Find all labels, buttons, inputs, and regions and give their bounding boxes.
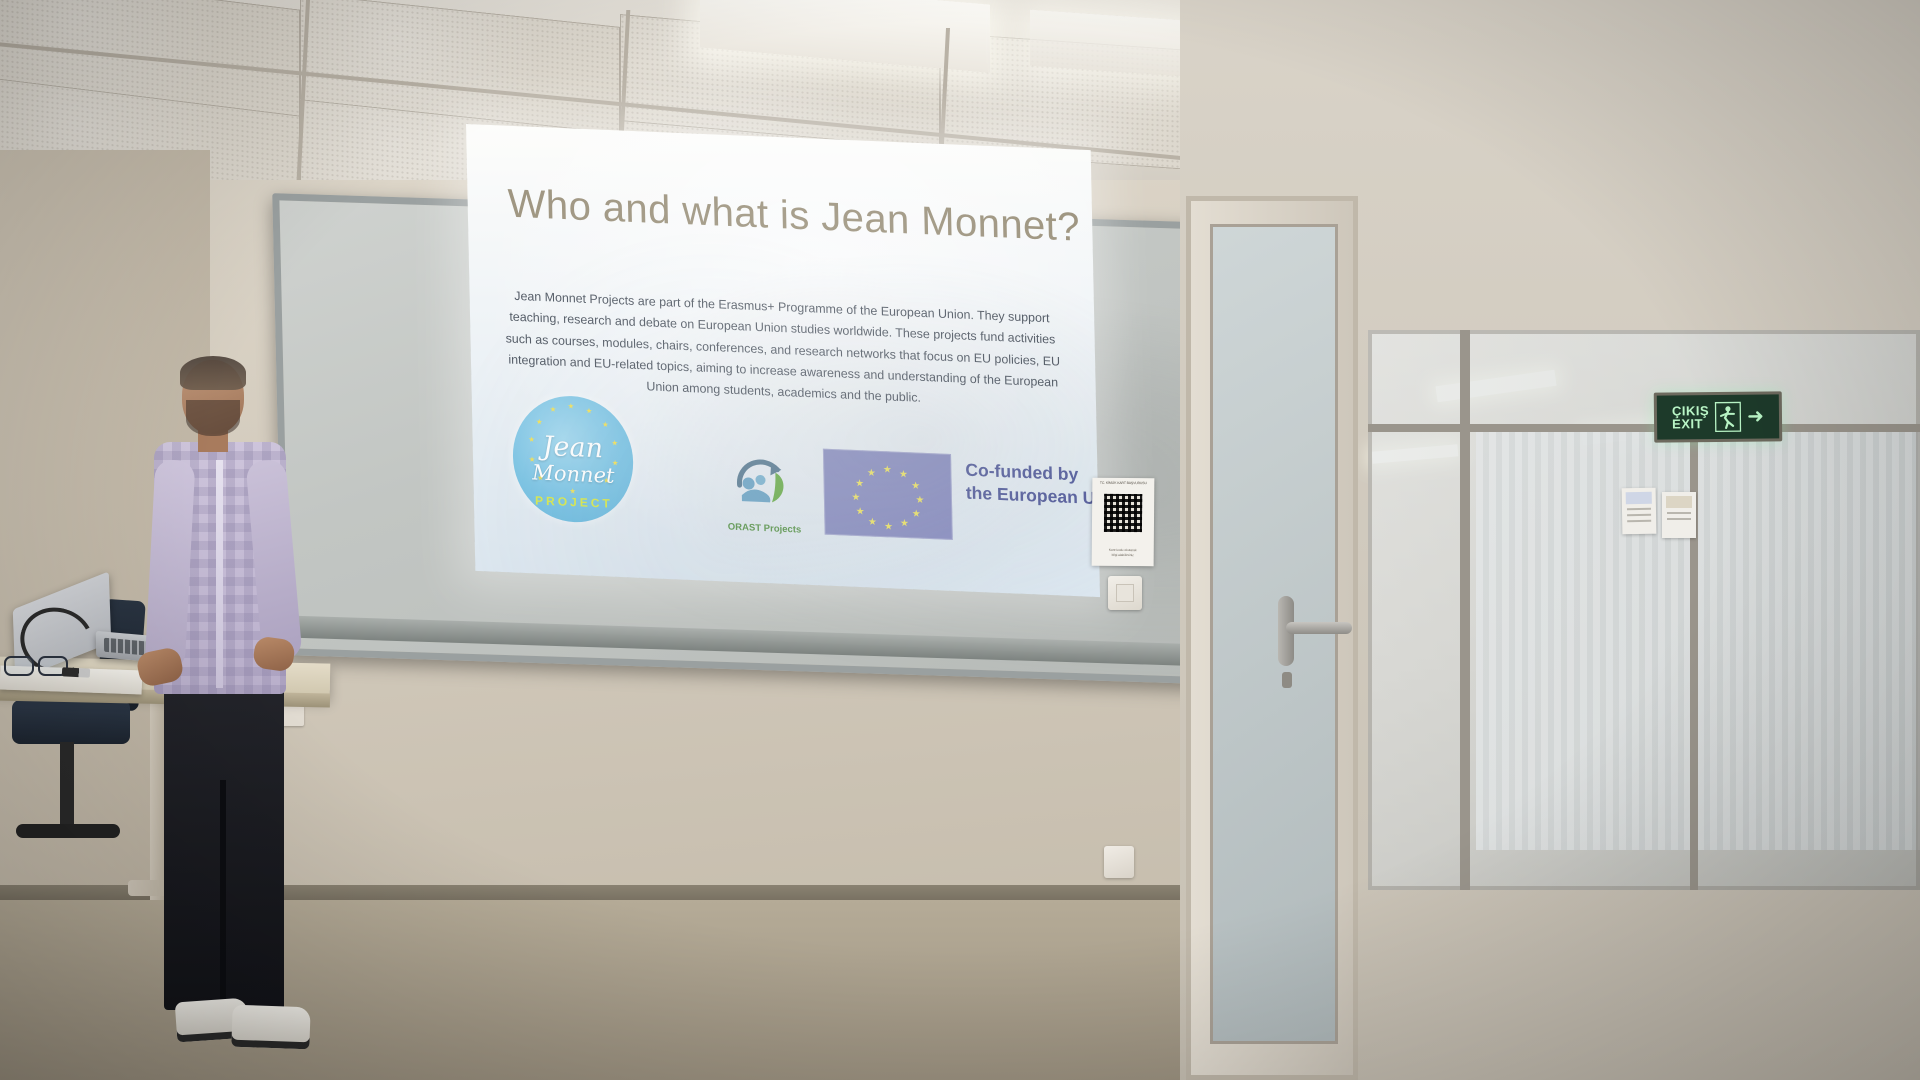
- door-glass-panel: [1210, 224, 1338, 1044]
- chair-seat: [12, 700, 130, 744]
- window-mullion: [1368, 424, 1920, 432]
- exit-sign: ÇIKIŞ EXIT ➜: [1654, 391, 1783, 442]
- jean-monnet-logo: Jean Monnet PROJECT: [512, 394, 635, 525]
- orast-label: ORAST Projects: [718, 521, 810, 536]
- marker-pen: [62, 667, 90, 677]
- jean-monnet-line2: Monnet: [513, 459, 634, 490]
- projected-slide: Who and what is Jean Monnet? Jean Monnet…: [466, 124, 1100, 597]
- eu-flag-stars: [823, 449, 953, 540]
- exit-sign-text: ÇIKIŞ EXIT: [1672, 404, 1709, 431]
- eyeglasses: [4, 656, 66, 674]
- slide-title: Who and what is Jean Monnet?: [507, 182, 1069, 250]
- exit-arrow-icon: ➜: [1747, 407, 1764, 427]
- eu-flag: [823, 449, 953, 540]
- eu-funding-line2: the European Union: [966, 481, 1100, 511]
- qr-poster: TC. KİMLİK KART BAŞVURUSU Kare kodu okut…: [1092, 478, 1155, 567]
- orast-logo: ORAST Projects: [717, 452, 811, 534]
- chair-base: [16, 824, 120, 838]
- window-mullion: [1690, 420, 1698, 890]
- classroom-photo-scene: Who and what is Jean Monnet? Jean Monnet…: [0, 0, 1920, 1080]
- wall-notice: [1622, 488, 1657, 535]
- exit-sign-line2: EXIT: [1672, 417, 1709, 431]
- presenter-beard: [186, 400, 240, 436]
- qr-poster-sub-line2: bilgi alabilirsiniz: [1092, 553, 1154, 558]
- eu-funding-text: Co-funded by the European Union: [965, 459, 1100, 512]
- chair-stem: [60, 742, 74, 828]
- slide-logo-row: Jean Monnet PROJECT ORAST Projects: [471, 382, 1099, 578]
- qr-poster-sub: Kare kodu okutarak bilgi alabilirsiniz: [1092, 548, 1154, 558]
- presenter-shirt-placket: [216, 460, 223, 688]
- running-person-icon: [1715, 402, 1741, 432]
- light-switch[interactable]: [1108, 576, 1142, 610]
- orast-mark-icon: [731, 455, 794, 512]
- qr-code: [1104, 494, 1142, 532]
- window-mullion: [1460, 330, 1470, 890]
- presenter-leg-split: [220, 780, 226, 1010]
- wall-socket: [1104, 846, 1134, 878]
- qr-poster-heading: TC. KİMLİK KART BAŞVURUSU: [1092, 481, 1154, 486]
- presenter-shoe: [231, 1005, 310, 1050]
- door-lock[interactable]: [1282, 672, 1292, 688]
- jean-monnet-wordmark: Jean Monnet: [512, 432, 633, 490]
- presenter-hair: [180, 356, 246, 390]
- corridor-window: [1368, 330, 1920, 890]
- door-handle-bar[interactable]: [1286, 622, 1352, 634]
- wall-notice: [1662, 492, 1696, 538]
- office-chair: [12, 700, 132, 870]
- presenter: [150, 350, 340, 1080]
